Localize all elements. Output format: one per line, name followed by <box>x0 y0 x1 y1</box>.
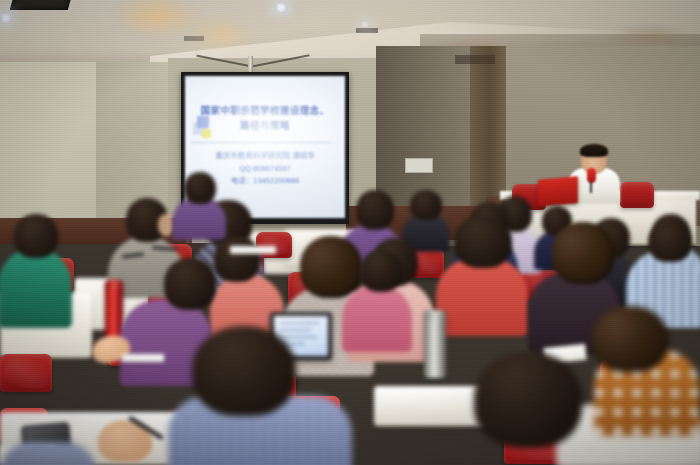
person-head <box>14 214 58 258</box>
slide-divider-rule <box>191 142 331 143</box>
person-head <box>410 190 442 220</box>
microphone-handle <box>590 181 592 193</box>
person-head <box>360 250 402 292</box>
person-torso <box>0 248 72 328</box>
presenter-hair <box>580 144 608 157</box>
ceiling-vent-icon <box>10 0 73 10</box>
person-head <box>454 216 512 268</box>
chair <box>0 354 52 392</box>
slide-title-line-2: 路径与策略 <box>191 119 339 134</box>
person-torso <box>342 284 412 352</box>
person-head <box>592 306 668 372</box>
person-head <box>192 326 296 416</box>
downlight-icon <box>0 12 12 24</box>
wall-marking <box>455 55 495 64</box>
person-head <box>474 352 582 448</box>
person-head <box>300 236 362 298</box>
slide-title: 国家中职示范学校建设理念、 路径与策略 <box>191 104 339 134</box>
wall-sign <box>405 158 433 173</box>
person-torso <box>436 258 528 336</box>
downlight-icon <box>360 21 370 28</box>
presenter-laptop <box>538 176 578 206</box>
person-head <box>552 222 614 284</box>
chair <box>620 182 654 208</box>
person-head <box>164 258 216 310</box>
notepaper <box>230 246 276 254</box>
conference-photo: 国家中职示范学校建设理念、 路径与策略 重庆市教育科学研究院 谭绍华 QQ:80… <box>0 0 700 465</box>
warm-ceiling-glow <box>186 14 256 54</box>
person-head <box>356 190 394 230</box>
notepaper <box>122 354 164 362</box>
ceiling-stain <box>610 22 690 48</box>
silver-thermos <box>424 310 446 378</box>
ceiling-vent-icon <box>356 28 378 33</box>
slide-title-line-1: 国家中职示范学校建设理念、 <box>191 104 339 119</box>
slide-qq: QQ:809674597 <box>191 163 339 176</box>
chair <box>256 232 292 258</box>
person-head <box>214 236 260 282</box>
slide-affiliation: 重庆市教育科学研究院 谭绍华 <box>191 150 339 163</box>
person-head <box>648 222 692 262</box>
person-head <box>184 172 216 204</box>
downlight-icon <box>274 3 288 12</box>
